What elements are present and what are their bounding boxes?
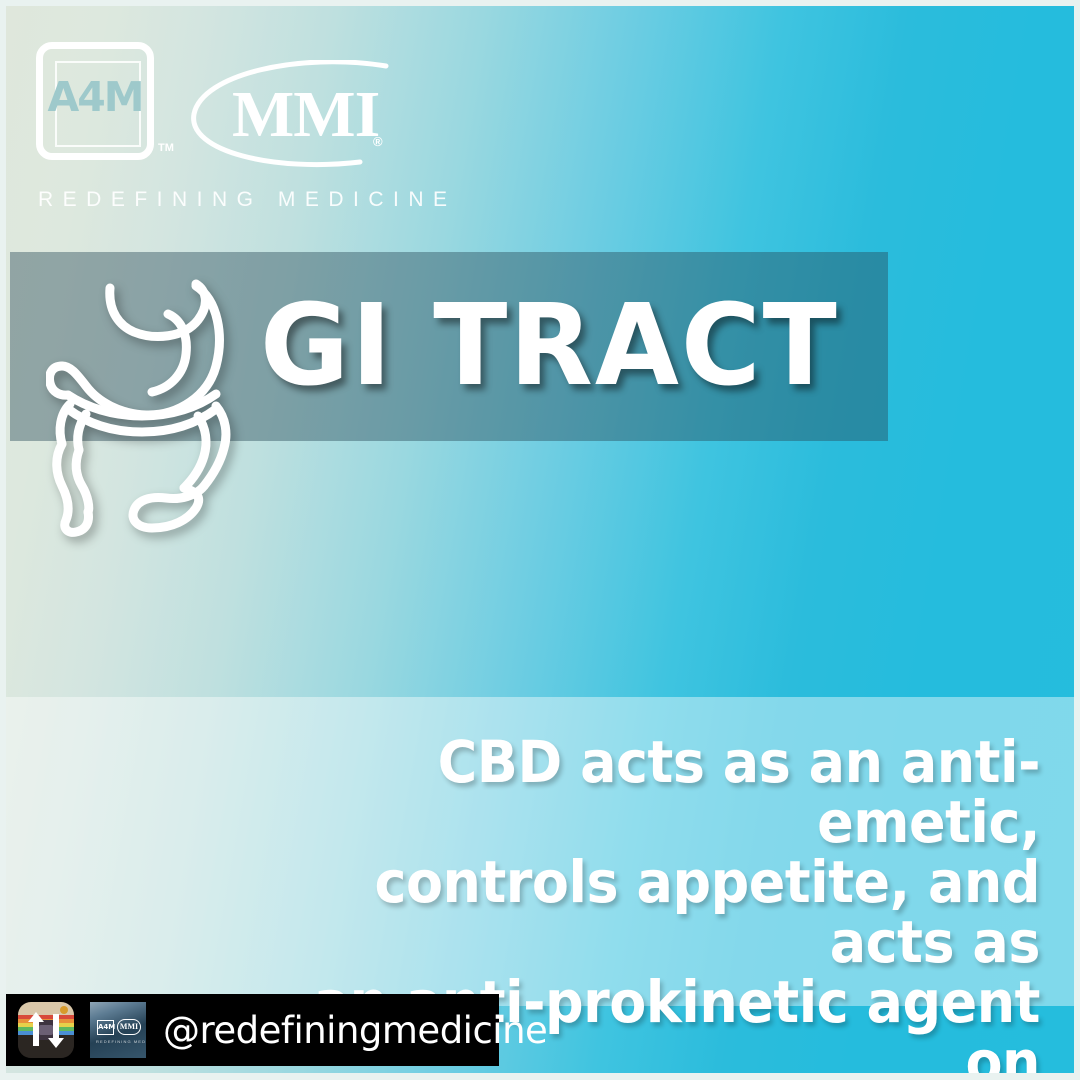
mmi-logo-text: MMI xyxy=(232,82,379,148)
a4m-logo-mark: A4M xyxy=(36,42,154,160)
gi-tract-icon xyxy=(46,274,256,544)
body-line: CBD acts as an anti-emetic, xyxy=(236,732,1040,852)
mmi-registered-symbol: ® xyxy=(373,134,383,149)
avatar-tagline: REDEFINING MEDICINE xyxy=(96,1039,146,1044)
instagram-post-image: A4M TM MMI ® REDEFINING MEDICINE GI TRAC… xyxy=(0,0,1080,1080)
account-avatar[interactable]: A4M MMI REDEFINING MEDICINE xyxy=(90,1002,146,1058)
account-handle[interactable]: @redefiningmedicine xyxy=(163,1009,547,1052)
repost-credit-bar: A4M MMI REDEFINING MEDICINE @redefiningm… xyxy=(6,994,499,1066)
body-line: controls appetite, and acts as xyxy=(236,852,1040,972)
a4m-logo-text: A4M xyxy=(43,77,147,118)
page-title: GI TRACT xyxy=(260,270,839,422)
repost-app-icon[interactable] xyxy=(18,1002,74,1058)
brand-logo-lockup: A4M TM MMI ® REDEFINING MEDICINE xyxy=(36,42,456,217)
avatar-mmi-mark: MMI xyxy=(117,1019,141,1035)
brand-tagline: REDEFINING MEDICINE xyxy=(38,188,457,212)
artwork-canvas: A4M TM MMI ® REDEFINING MEDICINE GI TRAC… xyxy=(6,6,1074,1073)
mmi-logo-block: MMI ® xyxy=(180,60,420,170)
avatar-a4m-mark: A4M xyxy=(97,1020,114,1035)
a4m-trademark-symbol: TM xyxy=(158,142,174,154)
